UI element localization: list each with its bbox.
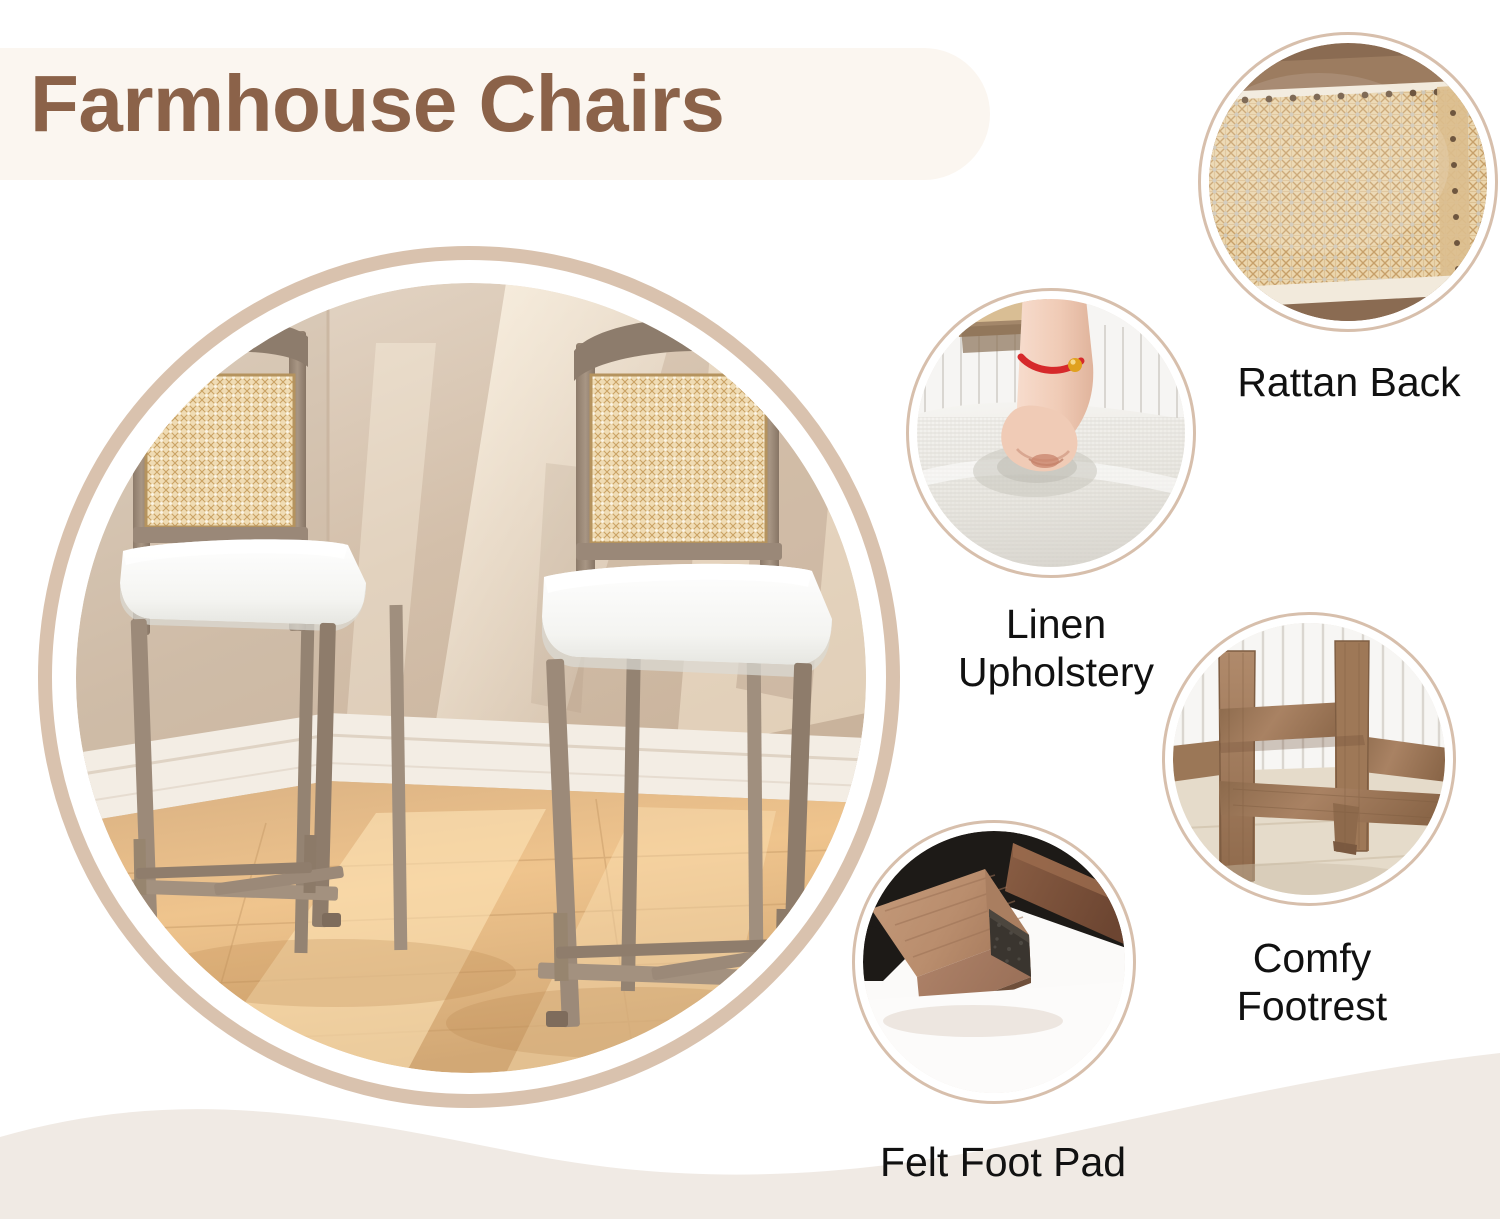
- felt-foot-pad-photo: [863, 831, 1125, 1093]
- feature-comfy-footrest: Comfy Footrest: [1162, 612, 1462, 1062]
- feature-felt-foot-pad: Felt Foot Pad: [852, 820, 1152, 1219]
- hero-product-photo: [76, 283, 866, 1073]
- hand-pressing-cushion: [917, 299, 1185, 567]
- feature-rattan-back: Rattan Back: [1198, 32, 1500, 434]
- footrest-stretcher-closeup: [1173, 623, 1445, 895]
- rattan-back-photo: [1209, 43, 1487, 321]
- page-title: Farmhouse Chairs: [30, 64, 990, 144]
- rattan-back-caption: Rattan Back: [1194, 358, 1500, 406]
- rattan-weave-closeup: [1209, 43, 1487, 321]
- linen-upholstery-photo: [917, 299, 1185, 567]
- comfy-footrest-caption: Comfy Footrest: [1158, 934, 1466, 1031]
- infographic-canvas: Farmhouse Chairs: [0, 0, 1500, 1219]
- chair-leg-felt-pad-closeup: [863, 831, 1125, 1093]
- feature-linen-upholstery: Linen Upholstery: [906, 288, 1206, 718]
- felt-foot-pad-caption: Felt Foot Pad: [844, 1138, 1162, 1186]
- comfy-footrest-photo: [1173, 623, 1445, 895]
- hero-scene: [76, 283, 866, 1073]
